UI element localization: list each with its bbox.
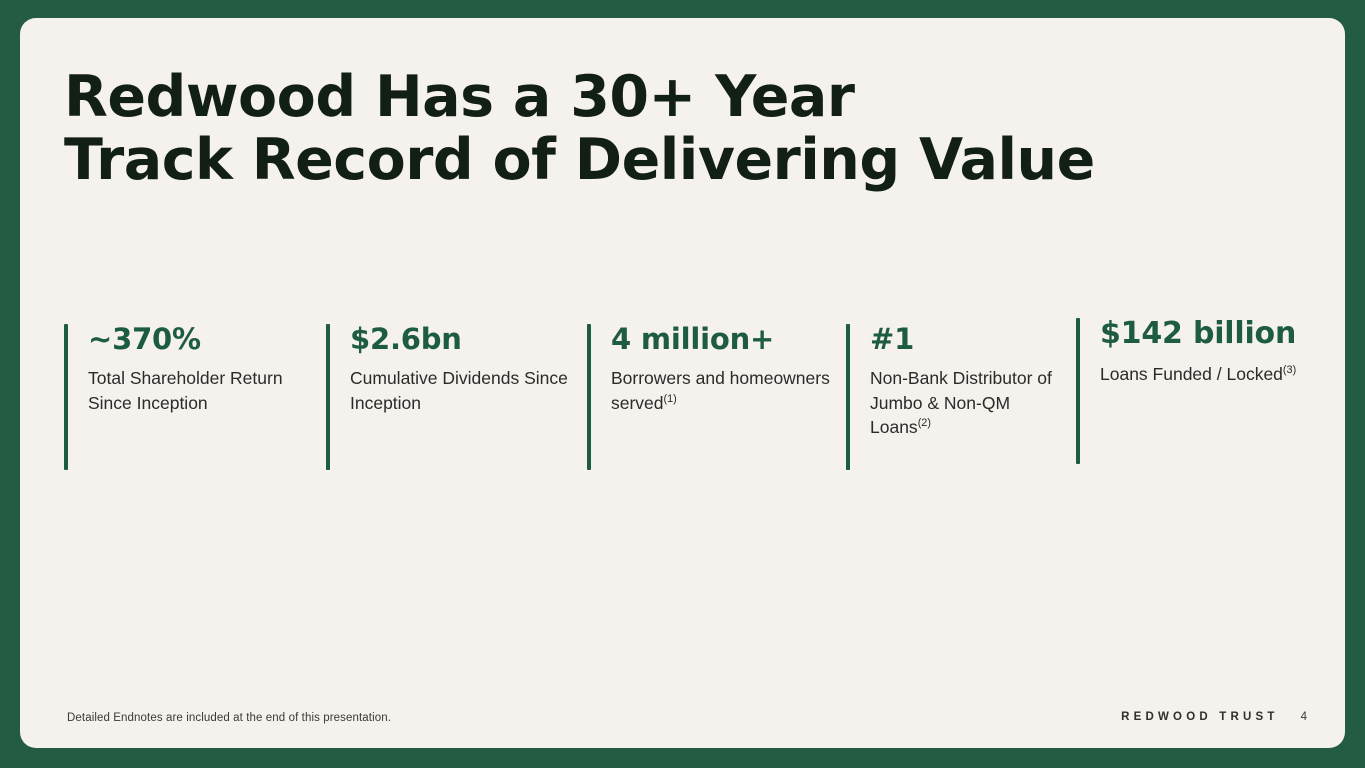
stat-label-text: Borrowers and homeowners served [611,368,830,412]
stat-value: $2.6bn [350,324,576,354]
brand-wordmark: REDWOOD TRUST [1121,711,1278,723]
stat-label: Total Shareholder Return Since Inception [88,366,314,415]
page-title-line-1: Redwood Has a 30+ Year [64,66,1164,129]
stat-body: 4 million+ Borrowers and homeowners serv… [591,324,837,470]
stat-value: #1 [870,324,1066,354]
page-title: Redwood Has a 30+ Year Track Record of D… [64,66,1164,191]
stat-card-cumulative-dividends: $2.6bn Cumulative Dividends Since Incept… [326,324,576,470]
stat-value: $142 billion [1100,318,1296,350]
page-title-line-2: Track Record of Delivering Value [64,129,1164,192]
stat-card-borrowers-served: 4 million+ Borrowers and homeowners serv… [587,324,837,470]
stat-label: Cumulative Dividends Since Inception [350,366,576,415]
stat-label-text: Non-Bank Distributor of Jumbo & Non-QM L… [870,368,1052,437]
page-number: 4 [1301,711,1307,723]
slide-panel: Redwood Has a 30+ Year Track Record of D… [20,18,1345,748]
stat-label-text: Total Shareholder Return Since Inception [88,368,283,412]
stat-label: Loans Funded / Locked(3) [1100,362,1296,387]
stat-label: Non-Bank Distributor of Jumbo & Non-QM L… [870,366,1066,439]
stat-footnote-marker: (2) [918,417,931,429]
stat-footnote-marker: (3) [1283,364,1296,376]
stat-body: $142 billion Loans Funded / Locked(3) [1080,318,1296,464]
stat-card-loans-funded-locked: $142 billion Loans Funded / Locked(3) [1076,318,1334,464]
stat-body: $2.6bn Cumulative Dividends Since Incept… [330,324,576,470]
stat-label-text: Loans Funded / Locked [1100,364,1283,384]
endnote-disclaimer: Detailed Endnotes are included at the en… [67,712,391,724]
stat-body: ~370% Total Shareholder Return Since Inc… [68,324,314,470]
stat-label-text: Cumulative Dividends Since Inception [350,368,568,412]
slide: Redwood Has a 30+ Year Track Record of D… [0,0,1365,768]
stat-body: #1 Non-Bank Distributor of Jumbo & Non-Q… [850,324,1066,470]
stat-value: ~370% [88,324,314,354]
stat-value: 4 million+ [611,324,837,354]
stat-card-non-bank-distributor: #1 Non-Bank Distributor of Jumbo & Non-Q… [846,324,1066,470]
footer-brand-block: REDWOOD TRUST 4 [1121,711,1307,723]
stats-row: ~370% Total Shareholder Return Since Inc… [64,308,1334,488]
stat-footnote-marker: (1) [664,393,677,405]
stat-label: Borrowers and homeowners served(1) [611,366,837,415]
stat-card-total-shareholder-return: ~370% Total Shareholder Return Since Inc… [64,324,314,470]
